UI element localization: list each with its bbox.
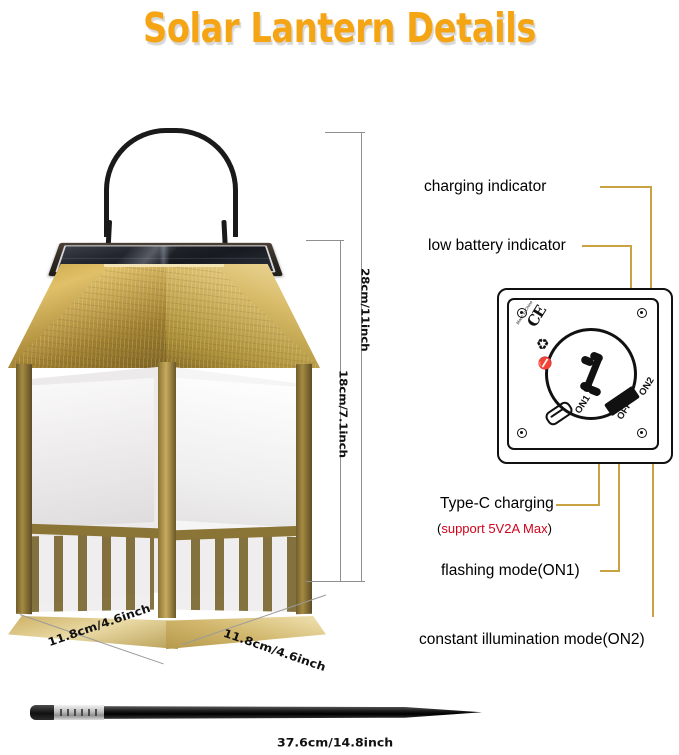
dim-tick-body-top — [306, 240, 344, 241]
leader-charging-h — [600, 186, 652, 188]
recycle-icon: ♻ — [532, 333, 554, 354]
dim-label-body-height: 18cm/7.1inch — [337, 370, 349, 458]
screw-icon — [517, 428, 527, 438]
label-flashing-mode: flashing mode(ON1) — [441, 562, 580, 580]
note-text: support 5V2A Max — [441, 521, 547, 536]
dim-tick-top — [325, 132, 365, 133]
leader-flash-v — [618, 456, 620, 572]
label-constant-mode: constant illumination mode(ON2) — [419, 631, 645, 649]
label-type-c-note: (support 5V2A Max) — [437, 521, 552, 536]
screw-icon — [637, 428, 647, 438]
label-type-c-charging: Type-C charging — [440, 495, 554, 513]
lantern-body — [16, 366, 312, 624]
product-detail-image: Solar Lantern Details — [0, 0, 679, 755]
lantern-product-photo — [8, 128, 320, 633]
dim-label-total-height: 28cm/11inch — [359, 268, 371, 352]
leader-lowbat-h — [582, 245, 632, 247]
label-low-battery-indicator: low battery indicator — [428, 237, 566, 255]
page-title: Solar Lantern Details — [61, 2, 618, 54]
note-paren-close: ) — [548, 521, 552, 536]
leader-flash-h — [600, 570, 620, 572]
lantern-handle — [104, 128, 238, 237]
dim-tick-body-bottom — [306, 581, 344, 582]
slat-band-right — [176, 534, 300, 612]
dim-line-total-height — [361, 132, 362, 582]
weee-bin-icon: ⛔ — [535, 353, 555, 373]
roof-ridge — [104, 264, 224, 267]
stake-rod — [52, 706, 482, 719]
corner-post-right — [296, 364, 312, 615]
stake-end-cap — [30, 705, 56, 720]
label-charging-indicator: charging indicator — [424, 178, 546, 196]
dim-label-stake-length: 37.6cm/14.8inch — [277, 736, 393, 750]
stake-marking — [60, 709, 98, 716]
leader-constant-v — [652, 456, 654, 617]
slat-band-left — [30, 534, 154, 612]
corner-post-middle — [158, 362, 176, 618]
corner-post-left — [16, 364, 32, 615]
leader-typec-h — [556, 504, 600, 506]
screw-icon — [637, 308, 647, 318]
frosted-panel-left — [30, 378, 154, 528]
frosted-panel-right — [176, 378, 300, 528]
ground-stake — [30, 700, 500, 726]
screwdriver-slot-icon — [578, 353, 608, 395]
lantern-roof — [8, 264, 320, 368]
control-panel-diagram: Made in China CE ♻ ⛔ ON1 OFF ON2 — [497, 288, 669, 460]
